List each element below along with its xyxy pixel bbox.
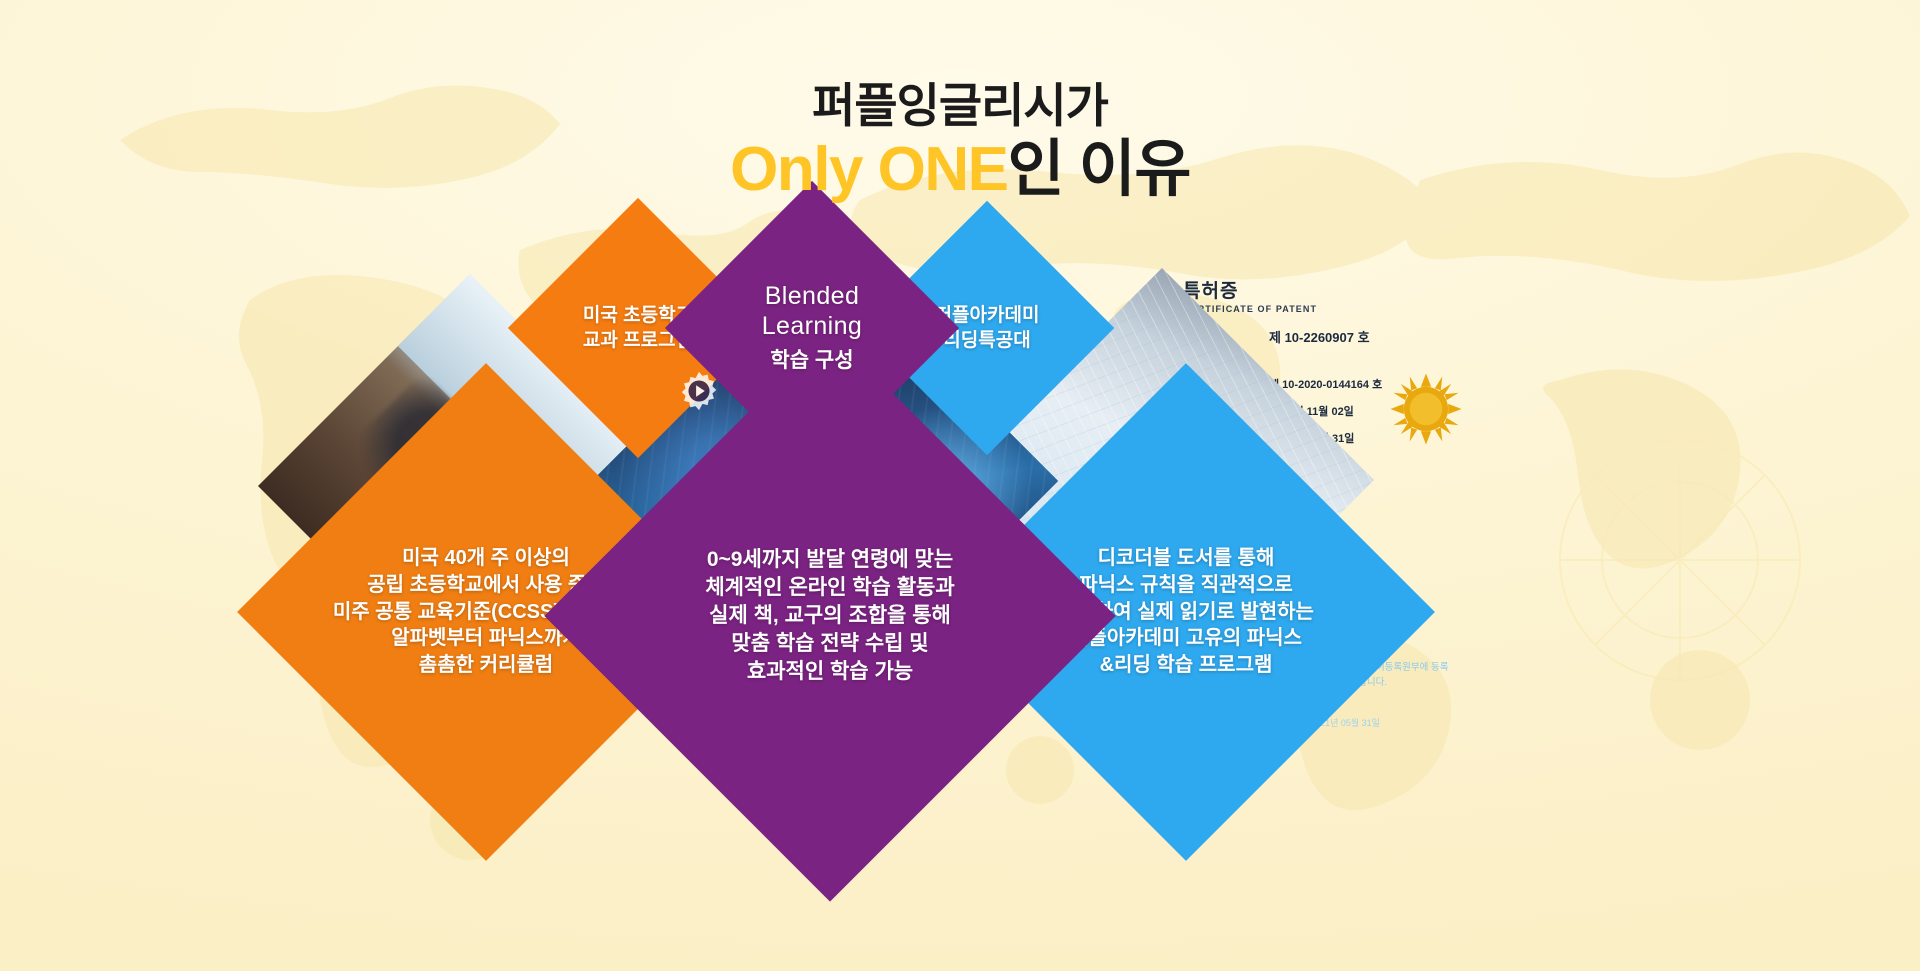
panel-blue-line-5: &리딩 학습 프로그램 — [1058, 652, 1314, 679]
panel-purple-line-3: 실제 책, 교구의 조합을 통해 — [705, 602, 954, 630]
panel-purple-line-1: 0~9세까지 발달 연령에 맞는 — [705, 546, 954, 574]
headline-only-one: Only ONE — [730, 135, 1007, 204]
panel-purple-line-4: 맞춤 학습 전략 수립 및 — [705, 630, 954, 658]
badge-purple-text: Blended Learning 학습 구성 — [762, 281, 863, 375]
badge-purple-eng-line-1: Blended — [762, 281, 863, 312]
headline-block: 퍼플잉글리시가 Only ONE인 이유 — [0, 78, 1920, 205]
poster-canvas: 퍼플잉글리시가 Only ONE인 이유 특허증 CERTIFICATE OF … — [0, 0, 1920, 971]
headline-line-2-suffix: 인 이유 — [1008, 135, 1190, 204]
headline-line-2: Only ONE인 이유 — [0, 135, 1920, 204]
badge-purple-eng-line-2: Learning — [762, 311, 863, 342]
panel-blue-line-1: 디코더블 도서를 통해 — [1058, 545, 1314, 572]
headline-line-1: 퍼플잉글리시가 — [0, 78, 1920, 133]
panel-purple-line-5: 효과적인 학습 가능 — [705, 658, 954, 686]
panel-purple-line-2: 체계적인 온라인 학습 활동과 — [705, 574, 954, 602]
badge-purple-kor-line: 학습 구성 — [762, 347, 863, 375]
panel-purple-text: 0~9세까지 발달 연령에 맞는 체계적인 온라인 학습 활동과 실제 책, 교… — [705, 546, 954, 687]
panel-blue-line-2: 파닉스 규칙을 직관적으로 — [1058, 572, 1314, 599]
